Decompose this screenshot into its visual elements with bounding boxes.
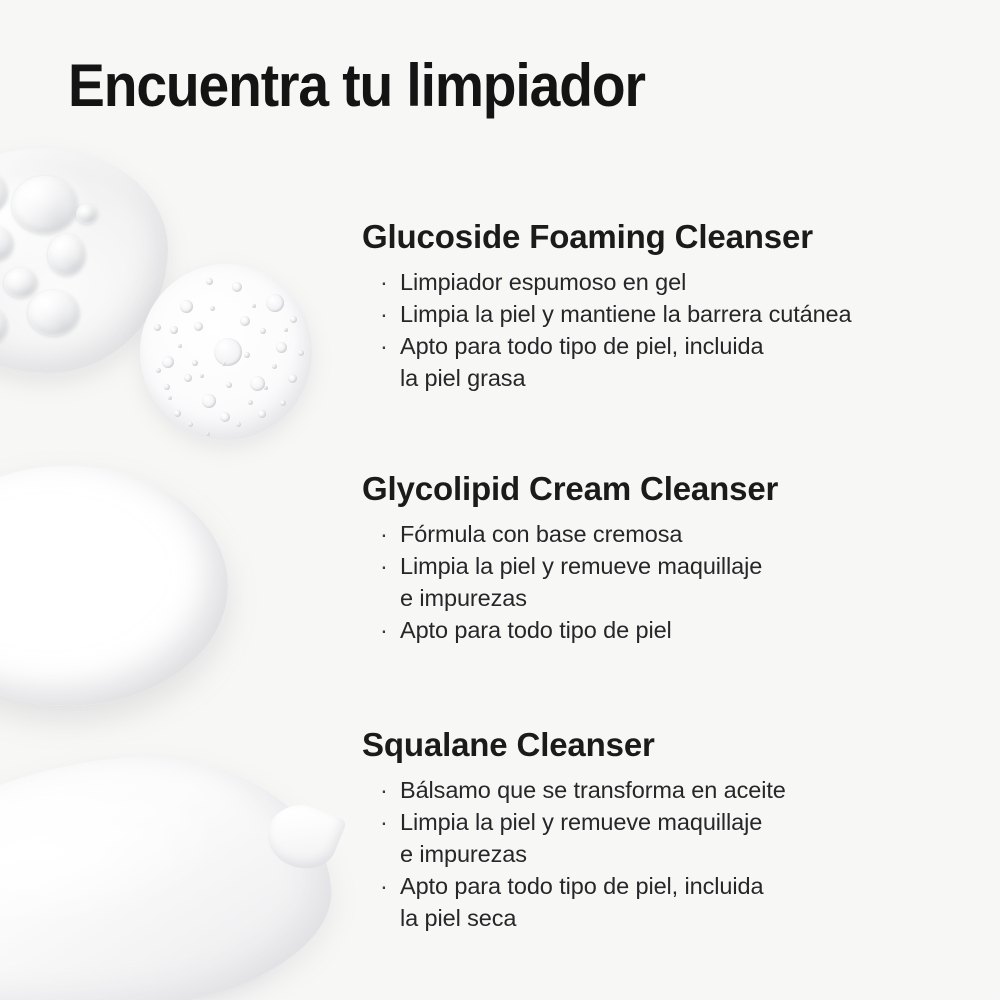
list-item: · Fórmula con base cremosa	[378, 518, 962, 550]
bullet-list-glycolipid: · Fórmula con base cremosa · Limpia la p…	[362, 518, 962, 646]
bullet-dot-icon: ·	[380, 614, 388, 646]
foam-texture-image	[140, 264, 312, 440]
section-squalane: Squalane Cleanser · Bálsamo que se trans…	[362, 726, 962, 934]
list-item-line-continued: e impurezas	[400, 582, 962, 614]
section-title-squalane: Squalane Cleanser	[362, 726, 962, 764]
list-item: · Apto para todo tipo de piel	[378, 614, 962, 646]
bullet-dot-icon: ·	[380, 550, 388, 582]
product-comparison-graphic: Encuentra tu limpiador	[0, 0, 1000, 1000]
list-item-line-continued: e impurezas	[400, 838, 962, 870]
section-title-glucoside: Glucoside Foaming Cleanser	[362, 218, 962, 256]
list-item-line: Apto para todo tipo de piel	[400, 617, 672, 643]
page-title: Encuentra tu limpiador	[68, 54, 645, 117]
list-item: · Limpiador espumoso en gel	[378, 266, 962, 298]
list-item-line: Bálsamo que se transforma en aceite	[400, 777, 786, 803]
list-item: · Limpia la piel y remueve maquillaje e …	[378, 550, 962, 614]
list-item-line: Limpia la piel y remueve maquillaje	[400, 809, 762, 835]
list-item: · Limpia la piel y remueve maquillaje e …	[378, 806, 962, 870]
list-item: · Apto para todo tipo de piel, incluida …	[378, 330, 962, 394]
list-item-line-continued: la piel seca	[400, 902, 962, 934]
list-item-line: Apto para todo tipo de piel, incluida	[400, 333, 763, 359]
bullet-dot-icon: ·	[380, 870, 388, 902]
bullet-dot-icon: ·	[380, 774, 388, 806]
list-item-line-continued: la piel grasa	[400, 362, 962, 394]
list-item: · Limpia la piel y mantiene la barrera c…	[378, 298, 962, 330]
list-item-line: Limpia la piel y remueve maquillaje	[400, 553, 762, 579]
balm-texture-image	[0, 738, 342, 1000]
list-item: · Bálsamo que se transforma en aceite	[378, 774, 962, 806]
bullet-dot-icon: ·	[380, 806, 388, 838]
list-item-line: Apto para todo tipo de piel, incluida	[400, 873, 763, 899]
section-glucoside: Glucoside Foaming Cleanser · Limpiador e…	[362, 218, 962, 394]
section-title-glycolipid: Glycolipid Cream Cleanser	[362, 470, 962, 508]
list-item: · Apto para todo tipo de piel, incluida …	[378, 870, 962, 934]
bullet-dot-icon: ·	[380, 266, 388, 298]
bullet-list-glucoside: · Limpiador espumoso en gel · Limpia la …	[362, 266, 962, 394]
list-item-line: Limpia la piel y mantiene la barrera cut…	[400, 301, 852, 327]
bullet-dot-icon: ·	[380, 330, 388, 362]
bullet-list-squalane: · Bálsamo que se transforma en aceite · …	[362, 774, 962, 934]
list-item-line: Limpiador espumoso en gel	[400, 269, 686, 295]
list-item-line: Fórmula con base cremosa	[400, 521, 682, 547]
bullet-dot-icon: ·	[380, 518, 388, 550]
bullet-dot-icon: ·	[380, 298, 388, 330]
section-glycolipid: Glycolipid Cream Cleanser · Fórmula con …	[362, 470, 962, 646]
cream-texture-image	[0, 466, 228, 706]
